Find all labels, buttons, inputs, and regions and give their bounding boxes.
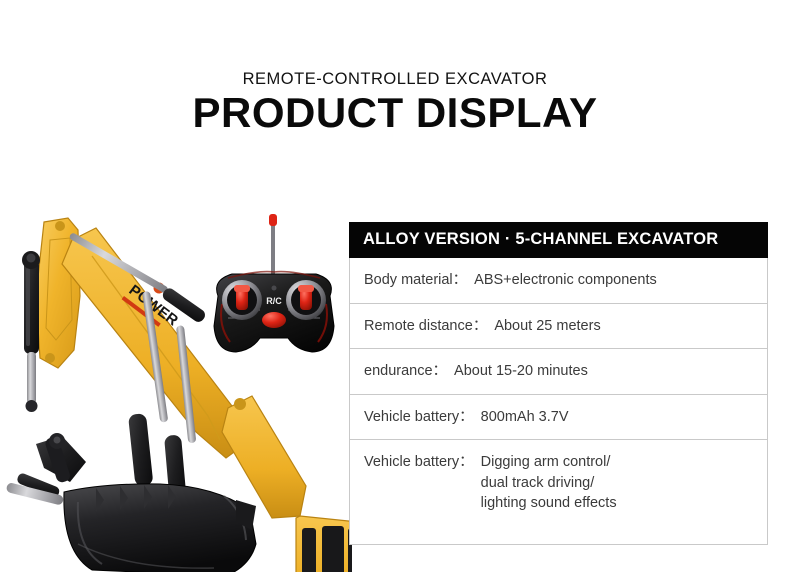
spec-separator: ： bbox=[433, 361, 455, 382]
spec-row: Remote distance ： About 25 meters bbox=[350, 304, 767, 350]
spec-table-header: ALLOY VERSION · 5-CHANNEL EXCAVATOR bbox=[349, 222, 768, 258]
spec-separator: ： bbox=[473, 316, 495, 337]
cab-front-window bbox=[322, 526, 344, 572]
remote-right-joystick bbox=[286, 280, 326, 320]
spec-label: Remote distance bbox=[364, 316, 473, 337]
remote-rc-label: R/C bbox=[266, 296, 282, 306]
spec-row: endurance ： About 15-20 minutes bbox=[350, 349, 767, 395]
spec-value: About 25 meters bbox=[494, 316, 600, 337]
spec-label: Body material bbox=[364, 270, 453, 291]
spec-label: Vehicle battery bbox=[364, 407, 459, 428]
spec-value: 800mAh 3.7V bbox=[481, 407, 569, 428]
spec-separator: ： bbox=[453, 270, 475, 291]
remote-power-button bbox=[262, 312, 286, 328]
spec-value: About 15-20 minutes bbox=[454, 361, 588, 382]
page-kicker: REMOTE-CONTROLLED EXCAVATOR bbox=[0, 70, 790, 89]
spec-table: ALLOY VERSION · 5-CHANNEL EXCAVATOR Body… bbox=[349, 222, 768, 545]
spec-row: Vehicle battery ： 800mAh 3.7V bbox=[350, 395, 767, 441]
spec-value: ABS+electronic components bbox=[474, 270, 657, 291]
remote-left-joystick bbox=[222, 280, 262, 320]
spec-table-body: Body material ： ABS+electronic component… bbox=[349, 258, 768, 545]
excavator-cab bbox=[296, 516, 352, 572]
boom-hydraulic-cylinder bbox=[22, 251, 40, 412]
remote-led-indicator bbox=[272, 286, 277, 291]
spec-row: Vehicle battery ： Digging arm control/ d… bbox=[350, 440, 767, 544]
remote-control-photo: R/C bbox=[198, 200, 350, 360]
excavator-bucket bbox=[64, 484, 256, 572]
spec-label: Vehicle battery bbox=[364, 452, 459, 473]
spec-row: Body material ： ABS+electronic component… bbox=[350, 258, 767, 304]
product-display-page: REMOTE-CONTROLLED EXCAVATOR PRODUCT DISP… bbox=[0, 0, 790, 587]
spec-label: endurance bbox=[364, 361, 433, 382]
excavator-dipper-arm bbox=[222, 396, 306, 518]
spec-separator: ： bbox=[459, 452, 481, 473]
spec-separator: ： bbox=[459, 407, 481, 428]
spec-value: Digging arm control/ dual track driving/… bbox=[481, 452, 617, 514]
cab-side-window bbox=[302, 528, 316, 572]
page-title: PRODUCT DISPLAY bbox=[0, 89, 790, 137]
